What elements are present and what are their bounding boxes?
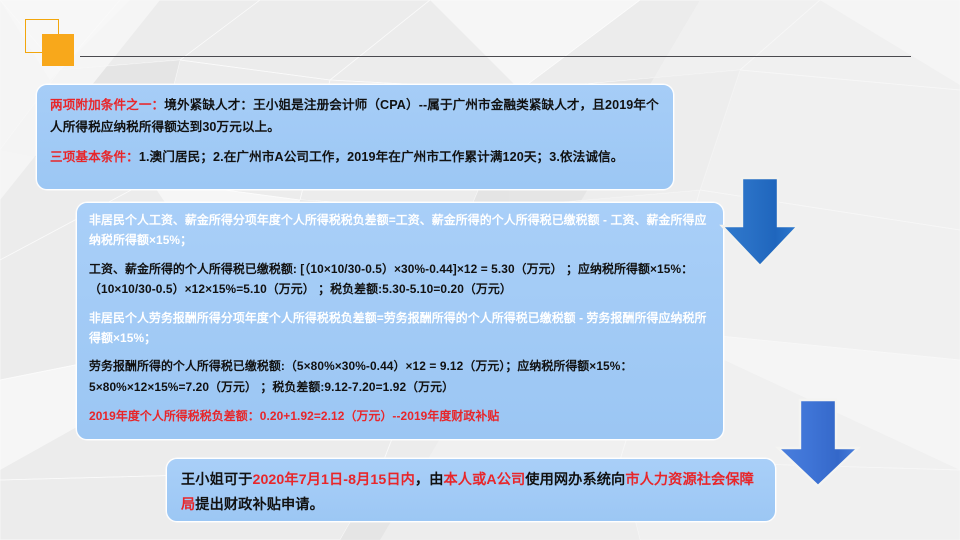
service-formula-row: 非居民个人劳务报酬所得分项年度个人所得税税负差额=劳务报酬所得的个人所得税已缴税…: [89, 309, 712, 349]
slide-canvas: 两项附加条件之一：境外紧缺人才：王小姐是注册会计师（CPA）--属于广州市金融类…: [0, 0, 960, 540]
apply-seg-applicant: 本人或A公司: [444, 472, 526, 488]
basic-conditions-text: 1.澳门居民；2.在广州市A公司工作，2019年在广州市工作累计满120天；3.…: [139, 150, 624, 164]
conditions-callout-box: 两项附加条件之一：境外紧缺人才：王小姐是注册会计师（CPA）--属于广州市金融类…: [36, 84, 674, 190]
apply-seg-period: 2020年7月1日-8月15日内: [252, 472, 414, 488]
total-subsidy-label: 2019年度个人所得税税负差额：: [89, 409, 260, 423]
application-text: 王小姐可于2020年7月1日-8月15日内，由本人或A公司使用网办系统向市人力资…: [181, 468, 763, 517]
apply-seg-action: 提出财政补贴申请。: [195, 497, 324, 513]
orange-square-filled-icon: [42, 34, 74, 66]
header-divider-line: [80, 56, 911, 57]
total-subsidy-row: 2019年度个人所得税税负差额：0.20+1.92=2.12（万元）--2019…: [89, 407, 712, 426]
service-calculation-row: 劳务报酬所得的个人所得税已缴税额:（5×80%×30%-0.44）×12 = 9…: [89, 356, 712, 397]
additional-conditions-label: 两项附加条件之一：: [50, 98, 164, 112]
down-arrow-to-application-icon: [774, 398, 862, 488]
additional-conditions-line: 两项附加条件之一：境外紧缺人才：王小姐是注册会计师（CPA）--属于广州市金融类…: [50, 94, 661, 139]
apply-seg-system: 使用网办系统向: [525, 472, 625, 488]
apply-seg-subject: 王小姐可于: [181, 472, 252, 488]
calculation-callout-box: 非居民个人工资、薪金所得分项年度个人所得税税负差额=工资、薪金所得的个人所得税已…: [76, 202, 724, 440]
wage-calculation-row: 工资、薪金所得的个人所得税已缴税额: [（10×10/30-0.5）×30%-0…: [89, 259, 712, 300]
application-callout-box: 王小姐可于2020年7月1日-8月15日内，由本人或A公司使用网办系统向市人力资…: [166, 458, 776, 522]
basic-conditions-label: 三项基本条件：: [50, 150, 139, 164]
total-subsidy-value: 0.20+1.92=2.12（万元）--2019年度财政补贴: [260, 409, 500, 423]
down-arrow-to-calculation-icon: [718, 176, 802, 268]
basic-conditions-line: 三项基本条件：1.澳门居民；2.在广州市A公司工作，2019年在广州市工作累计满…: [50, 146, 661, 168]
apply-seg-comma: ，由: [415, 472, 444, 488]
wage-formula-row: 非居民个人工资、薪金所得分项年度个人所得税税负差额=工资、薪金所得的个人所得税已…: [89, 211, 712, 251]
